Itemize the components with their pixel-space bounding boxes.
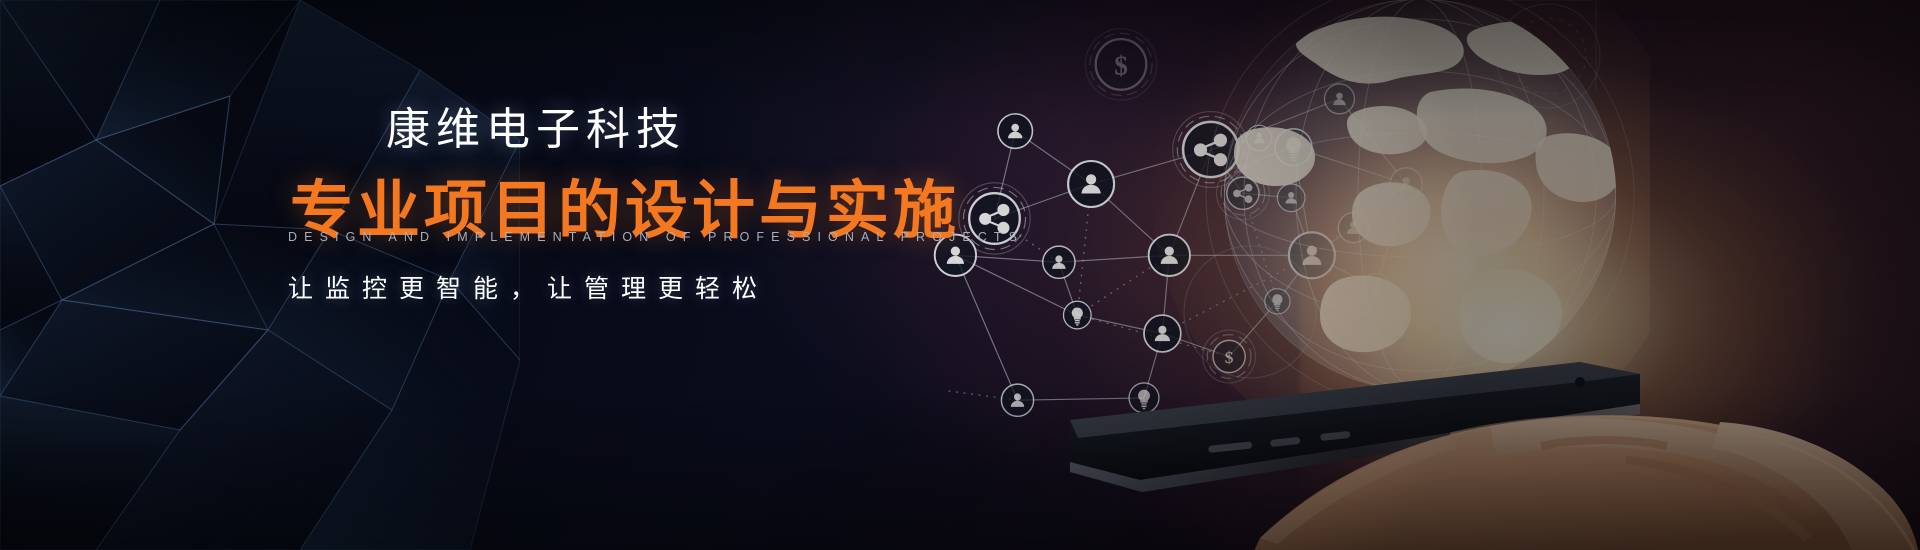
hero-banner: $	[0, 0, 1920, 550]
vignette	[0, 0, 1920, 550]
